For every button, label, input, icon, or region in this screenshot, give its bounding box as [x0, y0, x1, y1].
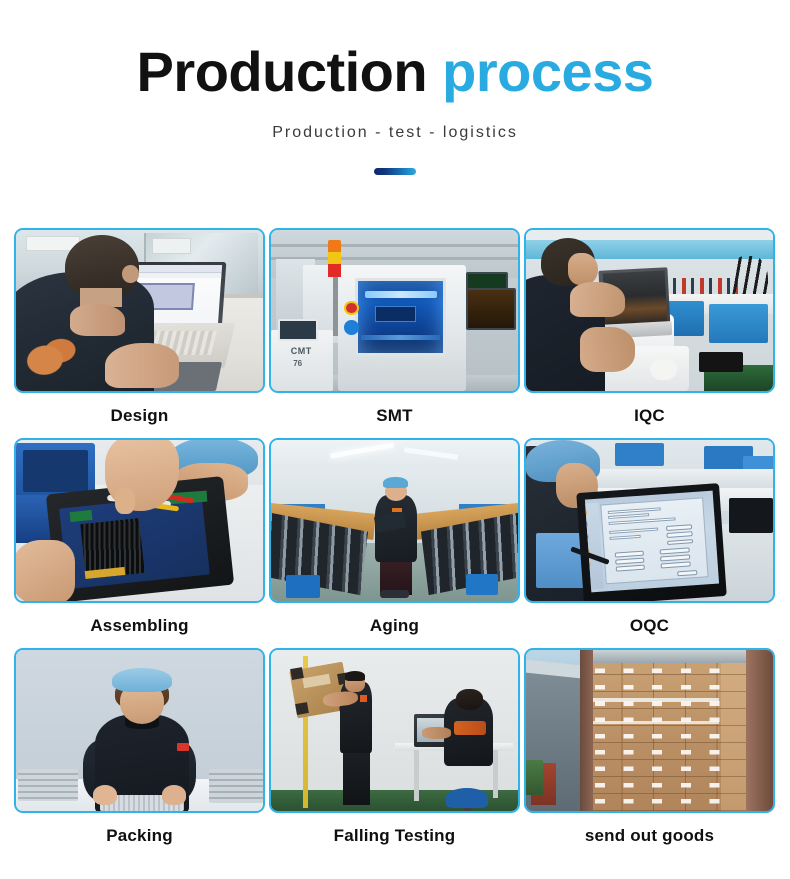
- process-step-aging[interactable]: Aging: [269, 438, 520, 648]
- process-label-aging: Aging: [269, 603, 520, 648]
- process-step-iqc[interactable]: IQC: [524, 228, 775, 438]
- process-card-falling-testing[interactable]: [269, 648, 520, 813]
- process-step-assembling[interactable]: Assembling: [14, 438, 265, 648]
- process-card-oqc[interactable]: [524, 438, 775, 603]
- process-step-smt[interactable]: CMT 76 SMT: [269, 228, 520, 438]
- photo-aging: [271, 440, 518, 601]
- page-subtitle: Production - test - logistics: [0, 124, 790, 142]
- process-step-shipping[interactable]: send out goods: [524, 648, 775, 858]
- photo-falling-testing: [271, 650, 518, 811]
- process-card-aging[interactable]: [269, 438, 520, 603]
- process-card-iqc[interactable]: [524, 228, 775, 393]
- photo-design: [16, 230, 263, 391]
- photo-oqc: [526, 440, 773, 601]
- page-title-dark: Production: [137, 40, 428, 103]
- process-step-falling-testing[interactable]: Falling Testing: [269, 648, 520, 858]
- process-card-design[interactable]: [14, 228, 265, 393]
- process-label-smt: SMT: [269, 393, 520, 438]
- process-step-design[interactable]: Design: [14, 228, 265, 438]
- process-label-assembling: Assembling: [14, 603, 265, 648]
- photo-packing: [16, 650, 263, 811]
- process-label-falling-testing: Falling Testing: [269, 813, 520, 858]
- smt-number-text: 76: [293, 359, 302, 368]
- process-card-assembling[interactable]: [14, 438, 265, 603]
- process-card-smt[interactable]: CMT 76: [269, 228, 520, 393]
- photo-iqc: [526, 230, 773, 391]
- page-header: Production process Production - test - l…: [0, 0, 790, 175]
- photo-smt: CMT 76: [271, 230, 518, 391]
- process-step-packing[interactable]: Packing: [14, 648, 265, 858]
- process-step-oqc[interactable]: OQC: [524, 438, 775, 648]
- page-title: Production process: [0, 40, 790, 104]
- page-title-accent: process: [442, 40, 653, 103]
- process-label-design: Design: [14, 393, 265, 438]
- process-label-shipping: send out goods: [524, 813, 775, 858]
- photo-shipping: [526, 650, 773, 811]
- process-grid: Design: [14, 228, 776, 858]
- process-label-oqc: OQC: [524, 603, 775, 648]
- production-process-page: Production process Production - test - l…: [0, 0, 790, 879]
- process-label-iqc: IQC: [524, 393, 775, 438]
- process-card-shipping[interactable]: [524, 648, 775, 813]
- accent-divider: [374, 168, 416, 175]
- photo-assembling: [16, 440, 263, 601]
- smt-brand-text: CMT: [291, 346, 312, 356]
- process-label-packing: Packing: [14, 813, 265, 858]
- process-card-packing[interactable]: [14, 648, 265, 813]
